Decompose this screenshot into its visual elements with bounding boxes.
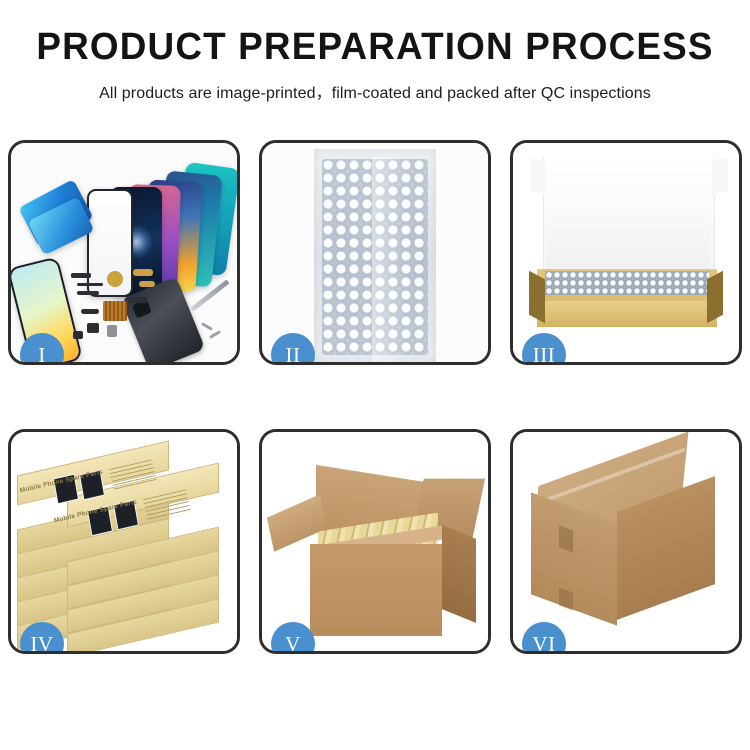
process-step-card-5[interactable]: V <box>259 429 491 654</box>
spare-part-gold-flex-2 <box>139 281 155 287</box>
process-step-card-6[interactable]: VI <box>510 429 742 654</box>
product-photo-bubble-wrapped-item <box>262 143 488 362</box>
spare-part-cable <box>129 297 147 303</box>
spare-part-gold-coil <box>107 271 123 287</box>
sealed-carton-tape-upper <box>559 525 573 552</box>
page-title: PRODUCT PREPARATION PROCESS <box>11 28 739 66</box>
process-step-card-2[interactable]: II <box>259 140 491 365</box>
spare-part-connector-grid <box>103 301 127 321</box>
header: PRODUCT PREPARATION PROCESS All products… <box>0 0 750 103</box>
bubble-wrapped-contents <box>545 271 709 295</box>
mailer-side-flap-right <box>707 271 723 324</box>
spare-part-flex-strip-2 <box>81 309 99 314</box>
spare-part-flex-strip-1 <box>77 291 99 295</box>
spare-part-black-bar <box>71 273 91 278</box>
carton-side-panel <box>442 525 476 623</box>
product-photo-open-carton <box>262 432 488 651</box>
mailer-side-flap-left <box>529 271 545 324</box>
carton-front-panel <box>310 544 442 636</box>
process-steps-grid: I II III <box>8 140 742 654</box>
spare-part-ribbon <box>77 283 103 286</box>
product-photo-stacked-kraft-boxes: Mobile Phone Spare Parts Mobile Phone Sp… <box>11 432 237 651</box>
bubble-wrap-bubbles <box>322 159 428 355</box>
spare-part-metal-bracket <box>107 325 117 337</box>
product-photo-screens-and-parts <box>11 143 237 362</box>
mailer-box-front-panel <box>537 301 717 327</box>
spare-part-speaker <box>73 331 83 339</box>
page-subtitle: All products are image-printed，film-coat… <box>0 79 750 103</box>
process-step-card-1[interactable]: I <box>8 140 240 365</box>
mailer-foam-liner <box>547 201 709 273</box>
product-photo-sealed-carton <box>513 432 739 651</box>
spare-part-camera-module <box>87 323 99 333</box>
process-step-card-3[interactable]: III <box>510 140 742 365</box>
product-photo-open-kraft-mailer <box>513 143 739 362</box>
spare-part-gold-flex-1 <box>133 269 153 276</box>
process-step-card-4[interactable]: Mobile Phone Spare Parts Mobile Phone Sp… <box>8 429 240 654</box>
bubble-wrap-sheet <box>314 149 436 362</box>
